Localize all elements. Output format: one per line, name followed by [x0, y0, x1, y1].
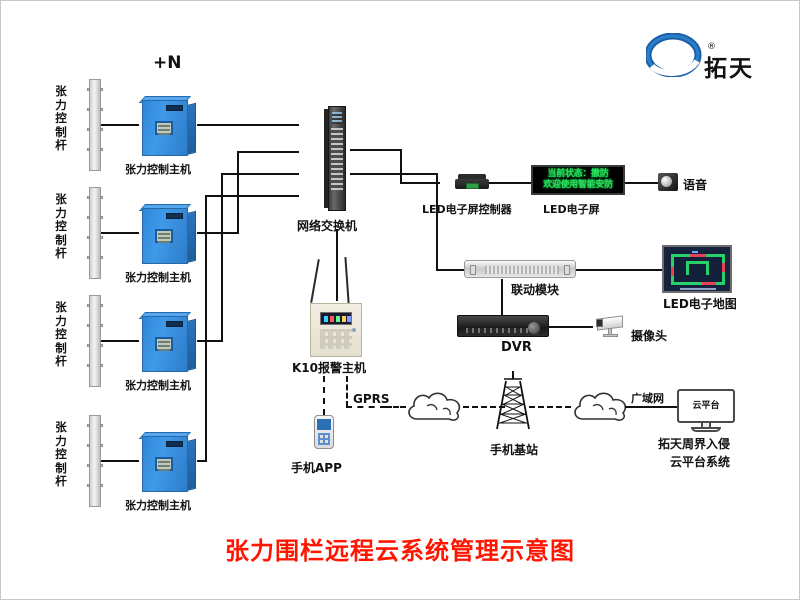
led-screen-controller-label: LED电子屏控制器 [422, 201, 512, 217]
wire-controller3-riser [221, 173, 223, 342]
k10-label: K10报警主机 [292, 359, 366, 376]
tension-pole-3 [89, 295, 101, 387]
led-screen-line1: 当前状态：撤防 [533, 169, 623, 180]
wire-controller4-switch [205, 195, 299, 197]
plus-n-label: +N [153, 53, 181, 73]
wire-switch-ledctrl-a [350, 149, 402, 151]
pole-label-1: 张力控制杆 [54, 85, 68, 153]
wire-tower-cloud2 [529, 406, 571, 408]
tension-controller-4 [136, 432, 198, 494]
brand-logo-icon [646, 33, 702, 77]
mobile-app-label: 手机APP [291, 459, 342, 476]
wire-controller2-switch [237, 151, 299, 153]
wire-pole3-controller3 [101, 340, 139, 342]
led-map-label: LED电子地图 [663, 295, 737, 312]
wire-switch-k10 [336, 229, 338, 301]
tension-controller-3 [136, 312, 198, 374]
linkage-module-label: 联动模块 [511, 281, 559, 298]
cloud-platform-label-line1: 拓天周界入侵 [658, 435, 730, 452]
wire-switch-linkage-b [436, 269, 466, 271]
tension-pole-2 [89, 187, 101, 279]
wire-gprs-cloud [386, 406, 406, 408]
cloud-platform-label-line2: 云平台系统 [670, 453, 730, 470]
diagram-title: 张力围栏远程云系统管理示意图 [1, 531, 799, 566]
led-screen: 当前状态：撤防 欢迎使用智能安防 [531, 165, 625, 195]
controller-label-1: 张力控制主机 [125, 161, 191, 177]
wire-controller3-switch [221, 173, 299, 175]
wire-pole2-controller2 [101, 232, 139, 234]
cloud-platform-screen-text: 云平台 [677, 398, 735, 411]
cloud-platform-monitor: 云平台 [677, 389, 735, 433]
wire-dvr-camera [549, 326, 593, 328]
wire-pole4-controller4 [101, 460, 139, 462]
brand-name: 拓天 [704, 49, 754, 83]
voice-label: 语音 [683, 176, 707, 193]
cloud-icon-right [569, 389, 633, 429]
base-station-label: 手机基站 [490, 441, 538, 458]
led-screen-controller [455, 174, 489, 190]
wire-linkage-dvr [501, 279, 503, 315]
dvr-label: DVR [501, 340, 532, 355]
k10-antenna-left [310, 259, 320, 303]
pole-label-3: 张力控制杆 [54, 301, 68, 369]
led-electronic-map [662, 245, 732, 293]
wire-switch-ledctrl-riser [400, 149, 402, 184]
led-screen-line2: 欢迎使用智能安防 [533, 180, 623, 191]
wire-linkage-ledmap [576, 269, 662, 271]
wire-controller4-riser [205, 195, 207, 462]
camera-icon [593, 317, 627, 337]
tension-controller-2 [136, 204, 198, 266]
controller-label-3: 张力控制主机 [125, 377, 191, 393]
camera-label: 摄像头 [631, 327, 667, 344]
mobile-app-device [314, 415, 334, 449]
wire-controller2-riser [237, 151, 239, 234]
linkage-module [464, 260, 576, 278]
network-switch-label: 网络交换机 [297, 217, 357, 234]
wire-ledctrl-ledscreen [489, 182, 531, 184]
wire-controller3-a [197, 340, 223, 342]
wire-switch-linkage-a [350, 173, 438, 175]
base-station-icon [489, 371, 537, 435]
pole-label-4: 张力控制杆 [54, 421, 68, 489]
dvr-device [457, 315, 549, 337]
wire-cloud2-monitor [625, 406, 677, 408]
wire-ledscreen-voice [625, 182, 658, 184]
wire-controller2-a [197, 232, 239, 234]
wire-controller1-switch [197, 124, 299, 126]
wire-pole1-controller1 [101, 124, 139, 126]
controller-label-2: 张力控制主机 [125, 269, 191, 285]
wire-switch-ledctrl-b [400, 182, 440, 184]
cloud-icon-left [403, 389, 467, 429]
wire-gprs-run [346, 406, 386, 408]
network-switch [324, 106, 350, 211]
wire-k10-gprs-riser [346, 376, 348, 407]
wan-label: 广域网 [631, 390, 664, 406]
controller-label-4: 张力控制主机 [125, 497, 191, 513]
k10-antenna-right [344, 257, 349, 303]
wire-switch-linkage-riser [436, 173, 438, 271]
led-screen-label: LED电子屏 [543, 201, 600, 217]
voice-module-icon [658, 173, 678, 191]
tension-pole-4 [89, 415, 101, 507]
tension-pole-1 [89, 79, 101, 171]
gprs-label: GPRS [353, 392, 390, 406]
pole-label-2: 张力控制杆 [54, 193, 68, 261]
k10-alarm-host [310, 303, 362, 357]
diagram-canvas: ® 拓天 +N 张力控制杆 张力控制主机 张力控制杆 张力控制主机 张力控制杆 [0, 0, 800, 600]
tension-controller-1 [136, 96, 198, 158]
